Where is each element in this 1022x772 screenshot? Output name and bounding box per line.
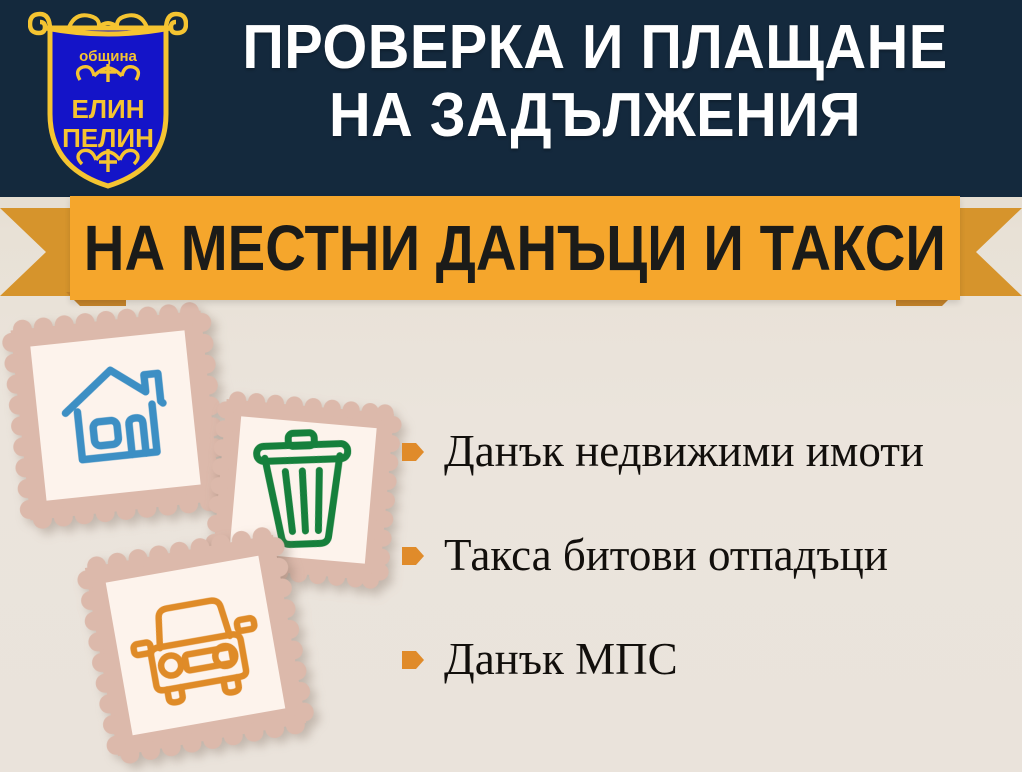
bullet-arrow-icon — [400, 647, 426, 673]
stamp-real-estate — [0, 297, 234, 533]
bullet-arrow-icon — [400, 439, 426, 465]
logo-top-text: община — [79, 48, 137, 65]
subtitle-ribbon: НА МЕСТНИ ДАНЪЦИ И ТАКСИ — [0, 196, 1022, 308]
poster-canvas: община ЕЛИН ПЕЛИН — [0, 0, 1022, 772]
ribbon-band: НА МЕСТНИ ДАНЪЦИ И ТАКСИ — [70, 196, 960, 300]
list-item-label: Данък МПС — [444, 634, 678, 684]
list-item-label: Такса битови отпадъци — [444, 530, 888, 580]
logo-name-line1: ЕЛИН — [71, 94, 144, 124]
header-title-block: ПРОВЕРКА И ПЛАЩАНЕ НА ЗАДЪЛЖЕНИЯ — [180, 14, 1010, 150]
stamp-vehicle — [71, 521, 320, 770]
tax-type-list: Данък недвижими имоти Такса битови отпад… — [400, 425, 1020, 737]
stamp-collage — [0, 300, 420, 772]
ribbon-label: НА МЕСТНИ ДАНЪЦИ И ТАКСИ — [84, 216, 946, 280]
bullet-arrow-icon — [400, 543, 426, 569]
header-title-line-2: НА ЗАДЪЛЖЕНИЯ — [209, 82, 981, 150]
municipality-logo: община ЕЛИН ПЕЛИН — [28, 6, 188, 191]
list-item: Данък МПС — [400, 633, 1020, 685]
list-item: Такса битови отпадъци — [400, 529, 1020, 581]
list-item-label: Данък недвижими имоти — [444, 426, 924, 476]
header-bar: община ЕЛИН ПЕЛИН — [0, 0, 1022, 197]
logo-name-line2: ПЕЛИН — [62, 123, 154, 153]
list-item: Данък недвижими имоти — [400, 425, 1020, 477]
header-title-line-1: ПРОВЕРКА И ПЛАЩАНЕ — [209, 14, 981, 82]
